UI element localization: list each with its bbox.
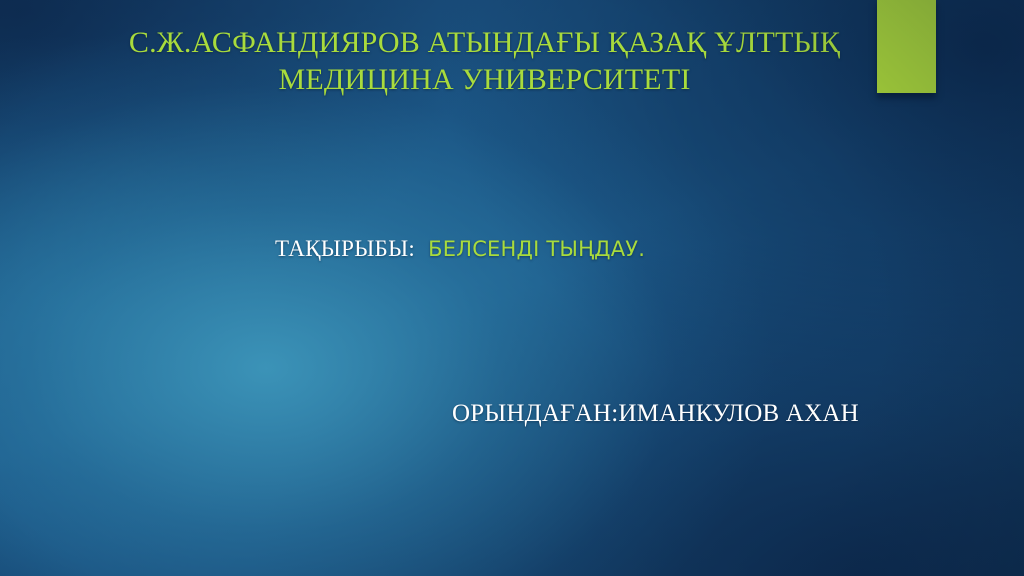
author-line: ОРЫНДАҒАН:ИМАНКУЛОВ АХАН (452, 398, 859, 430)
slide-title: С.Ж.АСФАНДИЯРОВ АТЫНДАҒЫ ҚАЗАҚ ҰЛТТЫҚ МЕ… (112, 24, 857, 98)
accent-bar-decoration (877, 0, 936, 93)
slide-title-line-2: МЕДИЦИНА УНИВЕРСИТЕТІ (112, 61, 857, 98)
topic-label: ТАҚЫРЫБЫ: (275, 236, 415, 261)
slide-title-line-1: С.Ж.АСФАНДИЯРОВ АТЫНДАҒЫ ҚАЗАҚ ҰЛТТЫҚ (112, 24, 857, 61)
topic-value: БЕЛСЕНДІ ТЫҢДАУ. (428, 237, 645, 261)
presentation-slide: С.Ж.АСФАНДИЯРОВ АТЫНДАҒЫ ҚАЗАҚ ҰЛТТЫҚ МЕ… (0, 0, 1024, 576)
topic-line: ТАҚЫРЫБЫ:БЕЛСЕНДІ ТЫҢДАУ. (275, 234, 645, 264)
